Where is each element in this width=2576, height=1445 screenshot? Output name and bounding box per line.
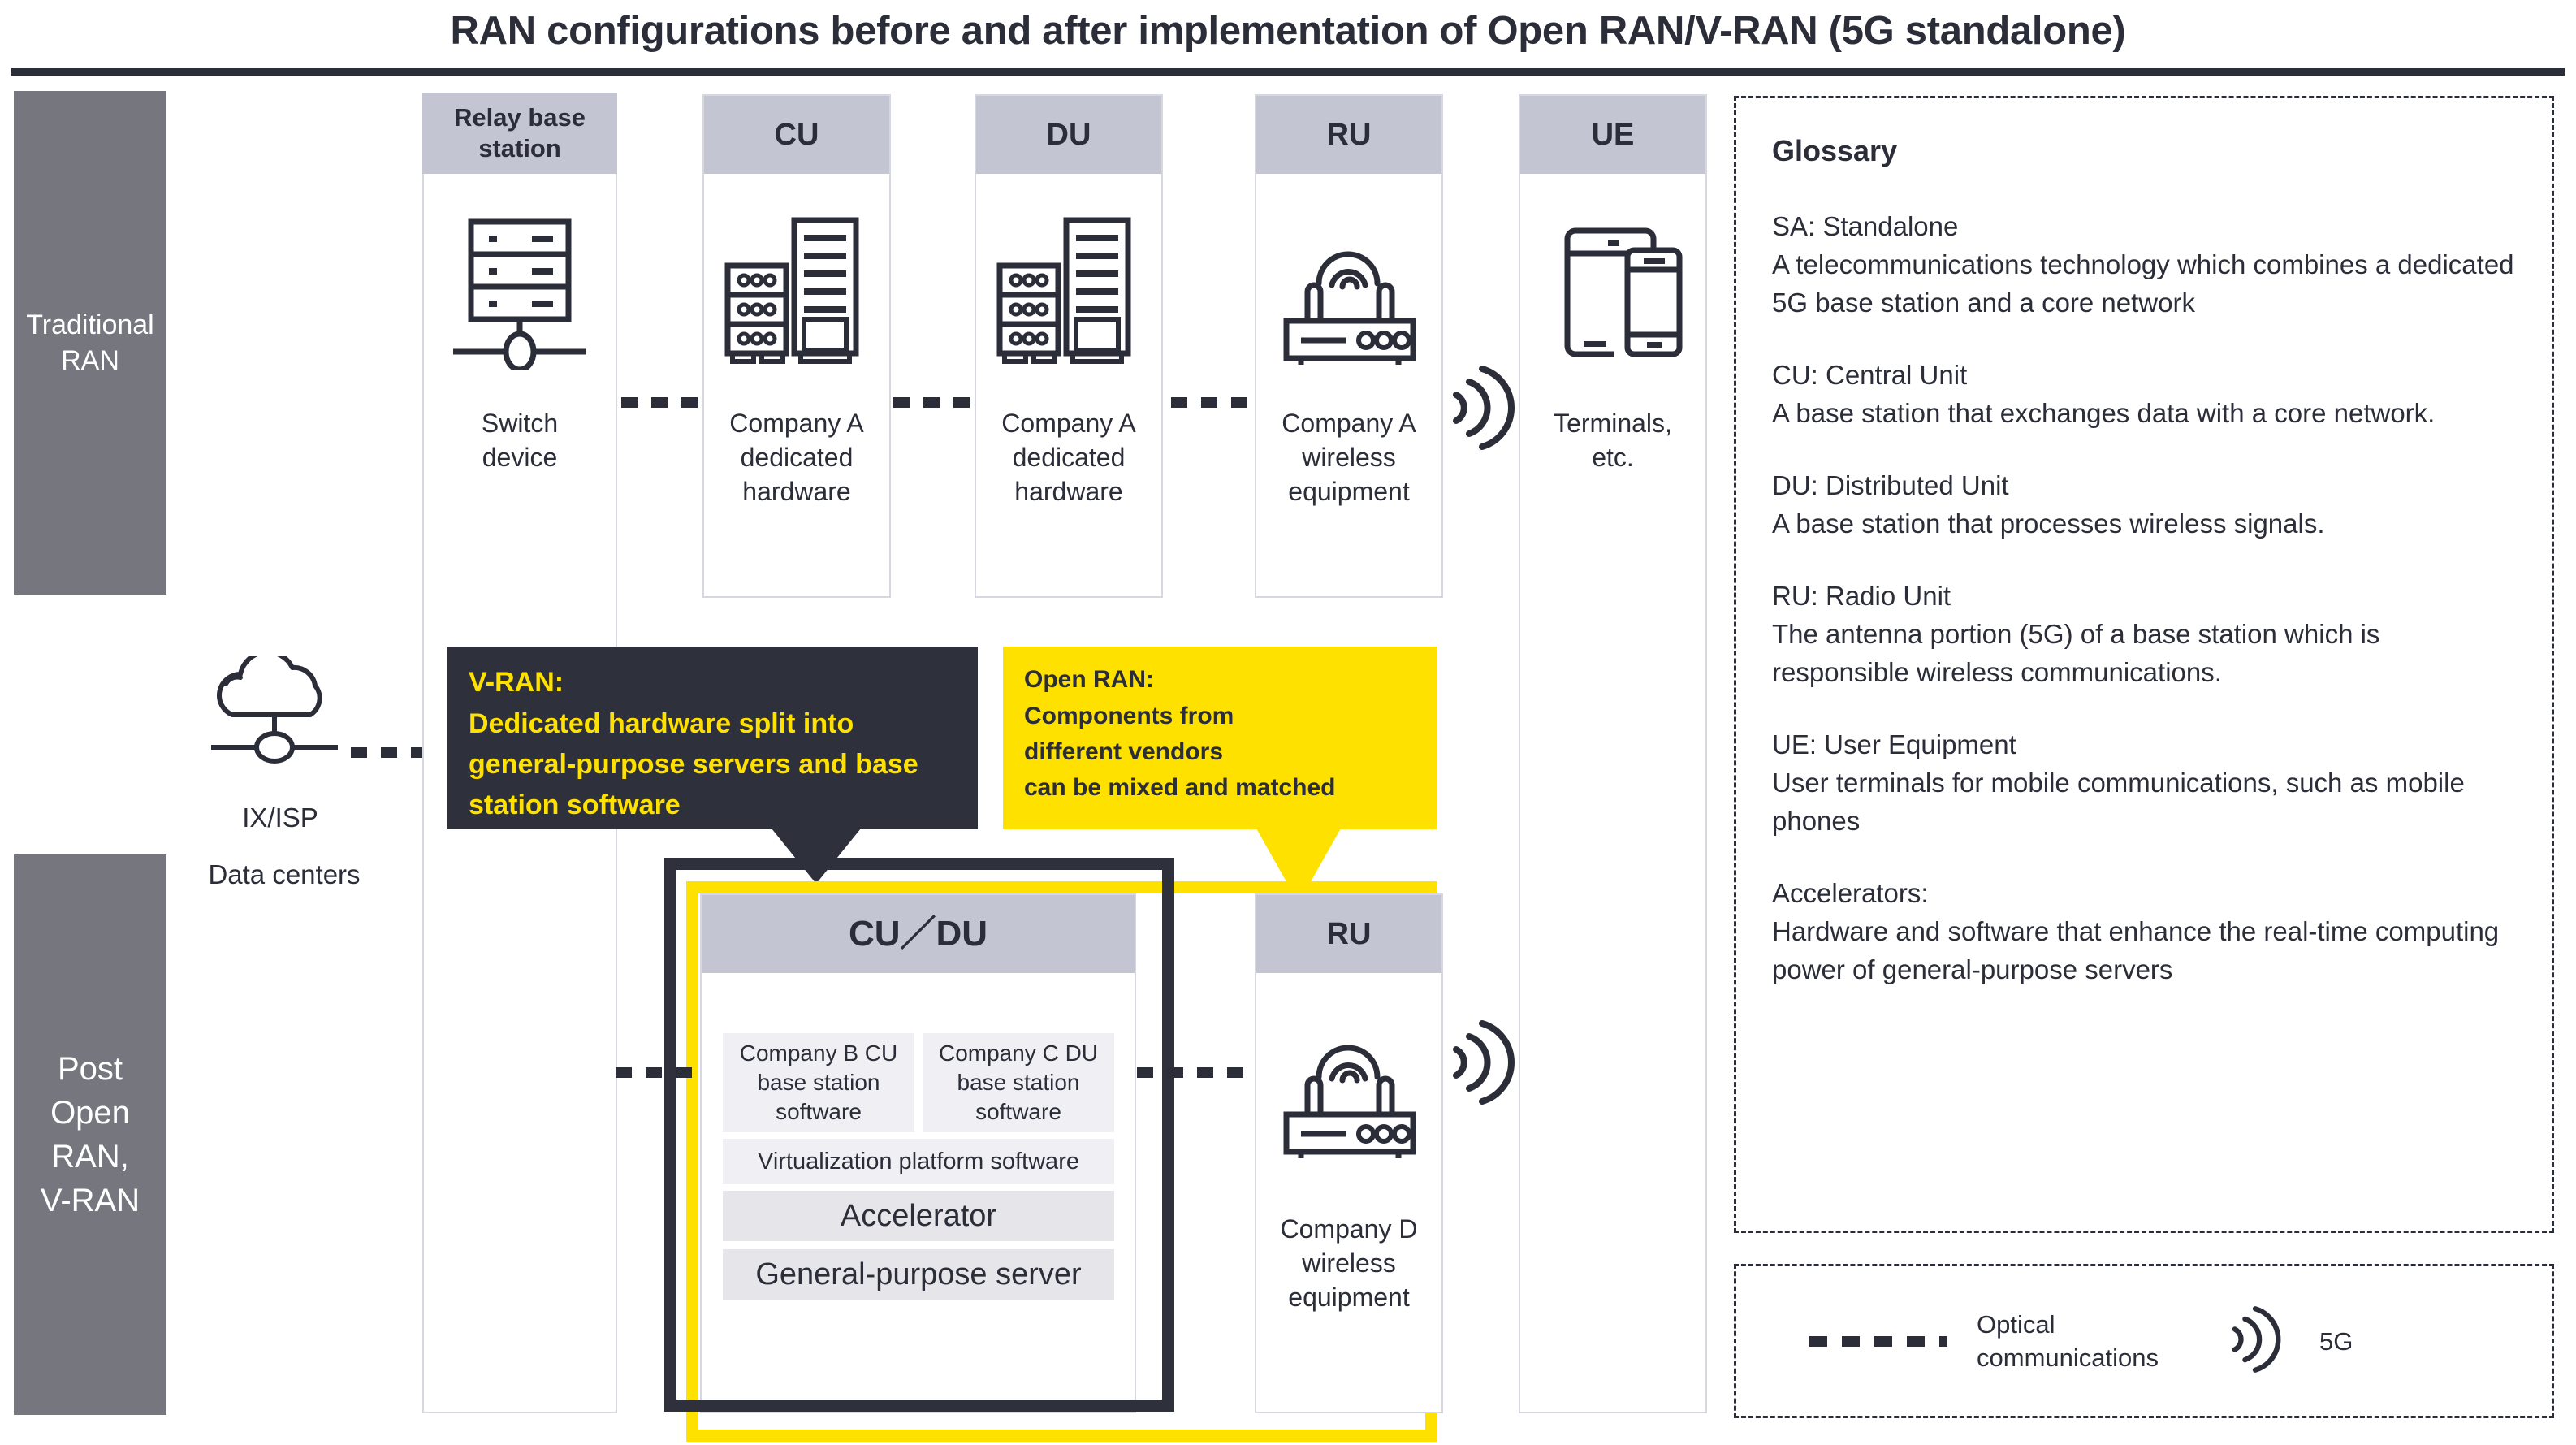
dotted-connector-relay-cudu: [616, 1067, 700, 1078]
relay-header-line1: Relay base: [454, 102, 586, 133]
cu-caption-line3: hardware: [703, 474, 890, 508]
relay-caption-line2: device: [424, 440, 616, 474]
stage-post-line3: RAN,: [41, 1135, 140, 1179]
mobile-devices-icon: [1527, 219, 1701, 374]
stage-traditional-line1: Traditional: [26, 307, 153, 343]
glossary-term-du: DU: Distributed Unit: [1772, 466, 2516, 504]
callout-openran-title: Open RAN:: [1024, 661, 1416, 699]
stage-post-open-ran: Post Open RAN, V-RAN: [14, 854, 166, 1415]
ue-caption: Terminals, etc.: [1519, 406, 1706, 474]
server-rack-icon: [708, 215, 887, 370]
glossary-def-ue: User terminals for mobile communications…: [1772, 764, 2516, 840]
callout-openran-line1: Components from: [1024, 699, 1416, 734]
stage-traditional-line2: RAN: [26, 343, 153, 379]
glossary-item-du: DU: Distributed Unit A base station that…: [1772, 466, 2516, 543]
glossary-term-ru: RU: Radio Unit: [1772, 577, 2516, 615]
dotted-connector-relay-cu: [621, 397, 699, 408]
column-header-ue: UE: [1520, 96, 1705, 174]
glossary-def-du: A base station that processes wireless s…: [1772, 504, 2516, 543]
wireless-router-icon: [1260, 1025, 1439, 1163]
du-caption-line2: dedicated: [975, 440, 1162, 474]
glossary-term-cu: CU: Central Unit: [1772, 356, 2516, 394]
callout-vran-line2: general-purpose servers and base: [469, 744, 957, 785]
5g-wave-icon: [2228, 1300, 2282, 1382]
legend-panel: Optical communications 5G: [1734, 1264, 2554, 1418]
title-divider: [11, 68, 2565, 76]
glossary-item-cu: CU: Central Unit A base station that exc…: [1772, 356, 2516, 432]
ue-caption-line1: Terminals,: [1519, 406, 1706, 440]
cu-caption-line2: dedicated: [703, 440, 890, 474]
glossary-term-sa: SA: Standalone: [1772, 207, 2516, 245]
glossary-term-accelerators: Accelerators:: [1772, 874, 2516, 912]
glossary-def-sa: A telecommunications technology which co…: [1772, 245, 2516, 322]
callout-vran-line3: station software: [469, 785, 957, 825]
callout-vran-title: V-RAN:: [469, 661, 957, 703]
glossary-item-ru: RU: Radio Unit The antenna portion (5G) …: [1772, 577, 2516, 691]
du-caption: Company A dedicated hardware: [975, 406, 1162, 508]
glossary-heading: Glossary: [1772, 131, 2516, 171]
ru2-caption-line3: equipment: [1256, 1280, 1442, 1314]
data-centers-label: Data centers: [154, 857, 414, 893]
callout-vran-line1: Dedicated hardware split into: [469, 703, 957, 744]
legend-optical-line1: Optical: [1977, 1308, 2159, 1341]
wireless-router-icon: [1260, 231, 1439, 370]
callout-openran-line2: different vendors: [1024, 734, 1416, 770]
glossary-item-ue: UE: User Equipment User terminals for mo…: [1772, 725, 2516, 840]
switch-device-icon: [439, 215, 601, 370]
column-header-cu: CU: [704, 96, 889, 174]
glossary-def-ru: The antenna portion (5G) of a base stati…: [1772, 615, 2516, 691]
glossary-def-cu: A base station that exchanges data with …: [1772, 394, 2516, 432]
ru-caption: Company A wireless equipment: [1256, 406, 1442, 508]
relay-caption: Switch device: [424, 406, 616, 474]
page-title: RAN configurations before and after impl…: [0, 5, 2576, 57]
dotted-connector-cu-du: [893, 397, 971, 408]
stage-post-line2: Open: [41, 1091, 140, 1135]
cu-caption: Company A dedicated hardware: [703, 406, 890, 508]
server-rack-icon: [980, 215, 1159, 370]
dotted-connector-cudu-ru: [1137, 1067, 1257, 1078]
dotted-connector-cloud-relay: [351, 747, 424, 758]
column-header-ru: RU: [1256, 96, 1441, 174]
legend-optical-line2: communications: [1977, 1341, 2159, 1374]
callout-openran: Open RAN: Components from different vend…: [1003, 647, 1437, 829]
column-header-relay: Relay base station: [422, 93, 617, 174]
glossary-panel: Glossary SA: Standalone A telecommunicat…: [1734, 96, 2554, 1233]
legend-optical-label: Optical communications: [1977, 1308, 2159, 1374]
stage-post-line4: V-RAN: [41, 1179, 140, 1222]
cloud-icon: [193, 656, 356, 774]
ru-caption-line1: Company A: [1256, 406, 1442, 440]
dotted-line-icon: [1809, 1336, 1947, 1347]
legend-5g-label: 5G: [2319, 1325, 2353, 1358]
relay-header-line2: station: [454, 133, 586, 164]
glossary-item-accelerators: Accelerators: Hardware and software that…: [1772, 874, 2516, 989]
5g-wave-icon: [1448, 359, 1516, 456]
stage-post-line1: Post: [41, 1047, 140, 1091]
glossary-term-ue: UE: User Equipment: [1772, 725, 2516, 764]
callout-vran: V-RAN: Dedicated hardware split into gen…: [447, 647, 978, 829]
relay-caption-line1: Switch: [424, 406, 616, 440]
ru-caption-line3: equipment: [1256, 474, 1442, 508]
dotted-connector-du-ru: [1171, 397, 1249, 408]
glossary-item-sa: SA: Standalone A telecommunications tech…: [1772, 207, 2516, 322]
ru2-caption-line2: wireless: [1256, 1246, 1442, 1280]
du-caption-line3: hardware: [975, 474, 1162, 508]
ue-caption-line2: etc.: [1519, 440, 1706, 474]
ru-caption-line2: wireless: [1256, 440, 1442, 474]
column-header-du: DU: [976, 96, 1161, 174]
vran-scope-frame: [664, 858, 1174, 1412]
stage-traditional-ran: Traditional RAN: [14, 91, 166, 595]
callout-openran-line3: can be mixed and matched: [1024, 770, 1416, 806]
column-header-ru-bottom: RU: [1256, 895, 1441, 973]
5g-wave-icon: [1448, 1014, 1516, 1111]
ru2-caption-line1: Company D: [1256, 1212, 1442, 1246]
cu-caption-line1: Company A: [703, 406, 890, 440]
ixisp-label: IX/ISP: [183, 800, 378, 836]
ru-bottom-caption: Company D wireless equipment: [1256, 1212, 1442, 1314]
glossary-def-accelerators: Hardware and software that enhance the r…: [1772, 912, 2516, 989]
du-caption-line1: Company A: [975, 406, 1162, 440]
